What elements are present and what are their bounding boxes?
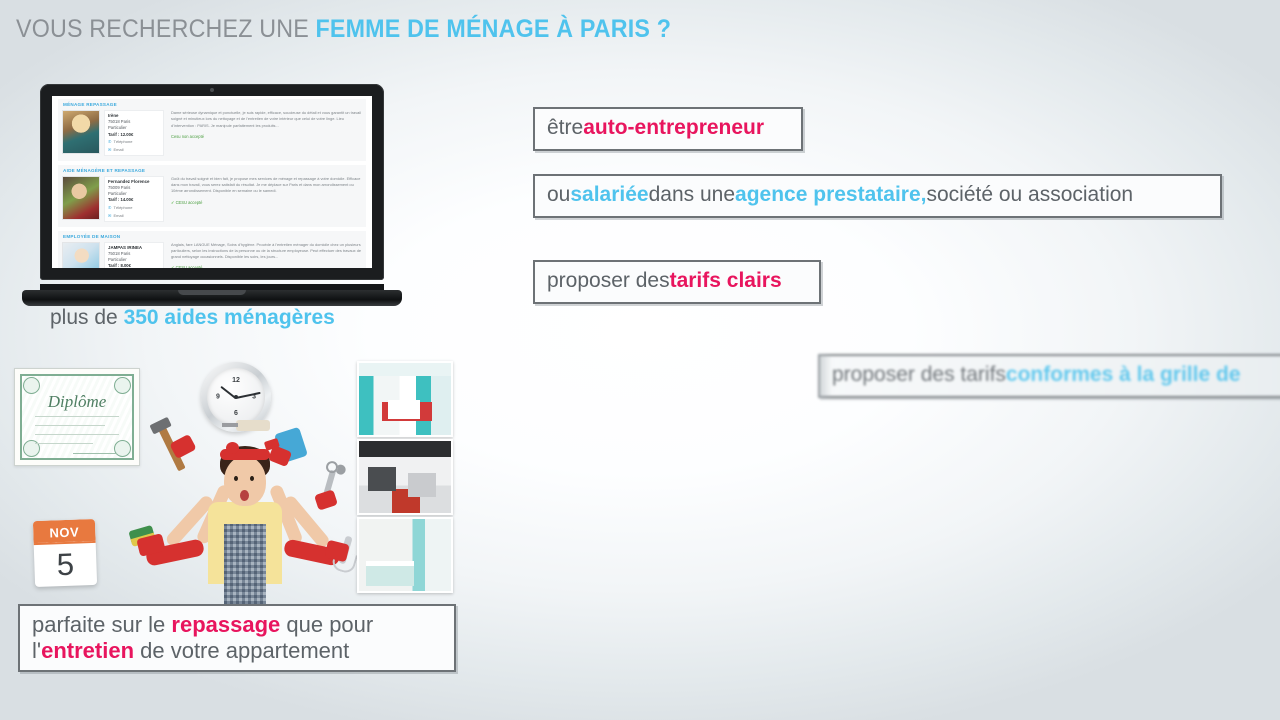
maid-apron: [224, 524, 266, 610]
callout-salariee-p2: dans une: [649, 183, 735, 207]
maid-headband: [220, 449, 270, 460]
listing-site: MÉNAGE REPASSAGE Irène 75018 Paris Parti…: [52, 96, 372, 268]
laptop-lid: MÉNAGE REPASSAGE Irène 75018 Paris Parti…: [40, 84, 384, 280]
listing-phone-button[interactable]: ✆Téléphone: [108, 205, 160, 211]
laptop-caption-pre: plus de: [50, 306, 124, 329]
listing-meta: Irène 75018 Paris Particulier Tarif : 12…: [104, 110, 164, 156]
list-item[interactable]: EMPLOYÉE DE MAISON JAMPAS IRINEA 75018 P…: [58, 231, 366, 268]
page-title: VOUS RECHERCHEZ UNE FEMME DE MÉNAGE À PA…: [16, 15, 671, 44]
callout-salariee: ou salariée dans une agence prestataire,…: [533, 174, 1222, 218]
listing-cesu: ✓ CESU accepté: [171, 265, 362, 268]
callout-sliding-strong: conformes à la grille de: [1006, 363, 1241, 387]
callout-repassage-line1: parfaite sur le repassage que pour: [32, 612, 442, 638]
listing-meta: JAMPAS IRINEA 75018 Paris Particulier Ta…: [104, 242, 164, 268]
page-title-plain: VOUS RECHERCHEZ UNE: [16, 15, 316, 43]
callout-sliding-pre: proposer des tarifs: [832, 363, 1006, 387]
callout-salariee-p1: ou: [547, 183, 570, 207]
listing-phone-label: Téléphone: [114, 205, 133, 211]
slide-canvas: VOUS RECHERCHEZ UNE FEMME DE MÉNAGE À PA…: [0, 0, 1280, 720]
clock-number-12: 12: [232, 377, 240, 384]
callout-salariee-c1: salariée: [570, 183, 648, 207]
listing-description-wrap: Anglais, fare LANGUE Ménage, Soins d'hyg…: [171, 242, 362, 268]
callout-tarifs-pre: proposer des: [547, 269, 670, 293]
callout-tarifs-strong: tarifs clairs: [670, 269, 782, 293]
laptop-illustration: MÉNAGE REPASSAGE Irène 75018 Paris Parti…: [22, 84, 402, 306]
laptop-caption: plus de 350 aides ménagères: [50, 306, 335, 330]
callout-repassage-line2: l'entretien de votre appartement: [32, 638, 442, 664]
page-title-highlight: FEMME DE MÉNAGE À PARIS ?: [316, 15, 672, 43]
listing-rate: Tarif : 8.00€: [108, 263, 160, 268]
callout-repassage-line1-strong: repassage: [171, 612, 280, 637]
diploma-rule: [35, 443, 93, 444]
envelope-icon: ✉: [108, 213, 112, 219]
clock-number-9: 9: [216, 394, 220, 401]
listing-phone-label: Téléphone: [114, 139, 133, 145]
diploma-rule: [35, 425, 105, 426]
motion-trail: [818, 354, 832, 398]
callout-salariee-c2: agence prestataire,: [735, 183, 926, 207]
callout-repassage-line1-pre: parfaite sur le: [32, 612, 171, 637]
callout-auto-strong: auto-entrepreneur: [583, 116, 764, 140]
paint-roller-icon: [236, 420, 270, 431]
listing-email-label: Email: [114, 213, 124, 219]
interior-photo-kitchen: [357, 361, 453, 437]
listing-rate: Tarif : 12.00€: [108, 132, 160, 138]
red-glove: [314, 489, 338, 510]
maid-mouth: [240, 490, 249, 501]
listing-category: AIDE MÉNAGÈRE ET REPASSAGE: [63, 168, 362, 173]
callout-tarifs-clairs: proposer des tarifs clairs: [533, 260, 821, 304]
callout-repassage-line2-strong: entretien: [41, 638, 134, 663]
maid-eye: [234, 476, 238, 481]
listing-email-button[interactable]: ✉Email: [108, 213, 160, 219]
listing-cesu: ✓ CESU accepté: [171, 200, 362, 207]
callout-auto-pre: être: [547, 116, 583, 140]
callout-grille-tarifaire-sliding: proposer des tarifs conformes à la grill…: [818, 354, 1280, 398]
listing-description: Dame sérieuse dynamique et ponctuelle, j…: [171, 110, 361, 128]
listing-cesu: Cesu non accepté: [171, 134, 362, 141]
interior-photo-living-room: [357, 439, 453, 515]
callout-repassage-entretien: parfaite sur le repassage que pour l'ent…: [18, 604, 456, 672]
listing-description: Anglais, fare LANGUE Ménage, Soins d'hyg…: [171, 242, 361, 260]
callout-repassage-line1-post: que pour: [280, 612, 373, 637]
laptop-base: [22, 290, 402, 306]
envelope-icon: ✉: [108, 147, 112, 153]
listing-category: MÉNAGE REPASSAGE: [63, 102, 362, 107]
listing-description-wrap: Dame sérieuse dynamique et ponctuelle, j…: [171, 110, 362, 140]
listing-category: EMPLOYÉE DE MAISON: [63, 234, 362, 239]
listing-phone-button[interactable]: ✆Téléphone: [108, 139, 160, 145]
diploma-title: Diplôme: [15, 392, 139, 412]
list-item[interactable]: AIDE MÉNAGÈRE ET REPASSAGE Fernandez Flo…: [58, 165, 366, 227]
phone-icon: ✆: [108, 139, 112, 145]
diploma-rule: [35, 434, 119, 435]
listing-cesu-label: Cesu non accepté: [171, 134, 204, 139]
callout-auto-entrepreneur: être auto-entrepreneur: [533, 107, 803, 151]
laptop-screen: MÉNAGE REPASSAGE Irène 75018 Paris Parti…: [52, 96, 372, 268]
calendar-illustration: NOV 5: [33, 519, 97, 587]
listing-email-button[interactable]: ✉Email: [108, 147, 160, 153]
listing-email-label: Email: [114, 147, 124, 153]
clock-number-6: 6: [234, 410, 238, 417]
listing-cesu-label: CESU accepté: [176, 200, 203, 205]
listing-photo: [62, 176, 100, 220]
multitasking-maid-illustration: [120, 420, 370, 610]
calendar-day: 5: [34, 543, 97, 587]
listing-description: Goût du travail soigné et bien fait, je …: [171, 176, 360, 194]
clock-minute-hand: [236, 392, 261, 399]
maid-eye: [250, 476, 254, 481]
clock-center-pin: [234, 395, 238, 399]
listing-cesu-label: CESU accepté: [176, 265, 203, 268]
listing-meta: Fernandez Florence 75009 Paris Particuli…: [104, 176, 164, 222]
diploma-rule: [35, 416, 119, 417]
callout-salariee-p3: société ou association: [926, 183, 1133, 207]
listing-photo: [62, 242, 100, 268]
callout-repassage-line2-pre: l': [32, 638, 41, 663]
listing-description-wrap: Goût du travail soigné et bien fait, je …: [171, 176, 362, 206]
callout-repassage-line2-post: de votre appartement: [134, 638, 349, 663]
listing-photo: [62, 110, 100, 154]
list-item[interactable]: MÉNAGE REPASSAGE Irène 75018 Paris Parti…: [58, 99, 366, 161]
clock-face: 12 3 6 9: [207, 368, 265, 426]
interior-photo-bedroom: [357, 517, 453, 593]
listing-rate: Tarif : 14.00€: [108, 197, 160, 203]
phone-icon: ✆: [108, 205, 112, 211]
diploma-signature-line: [73, 453, 117, 454]
laptop-caption-strong: 350 aides ménagères: [124, 306, 335, 329]
